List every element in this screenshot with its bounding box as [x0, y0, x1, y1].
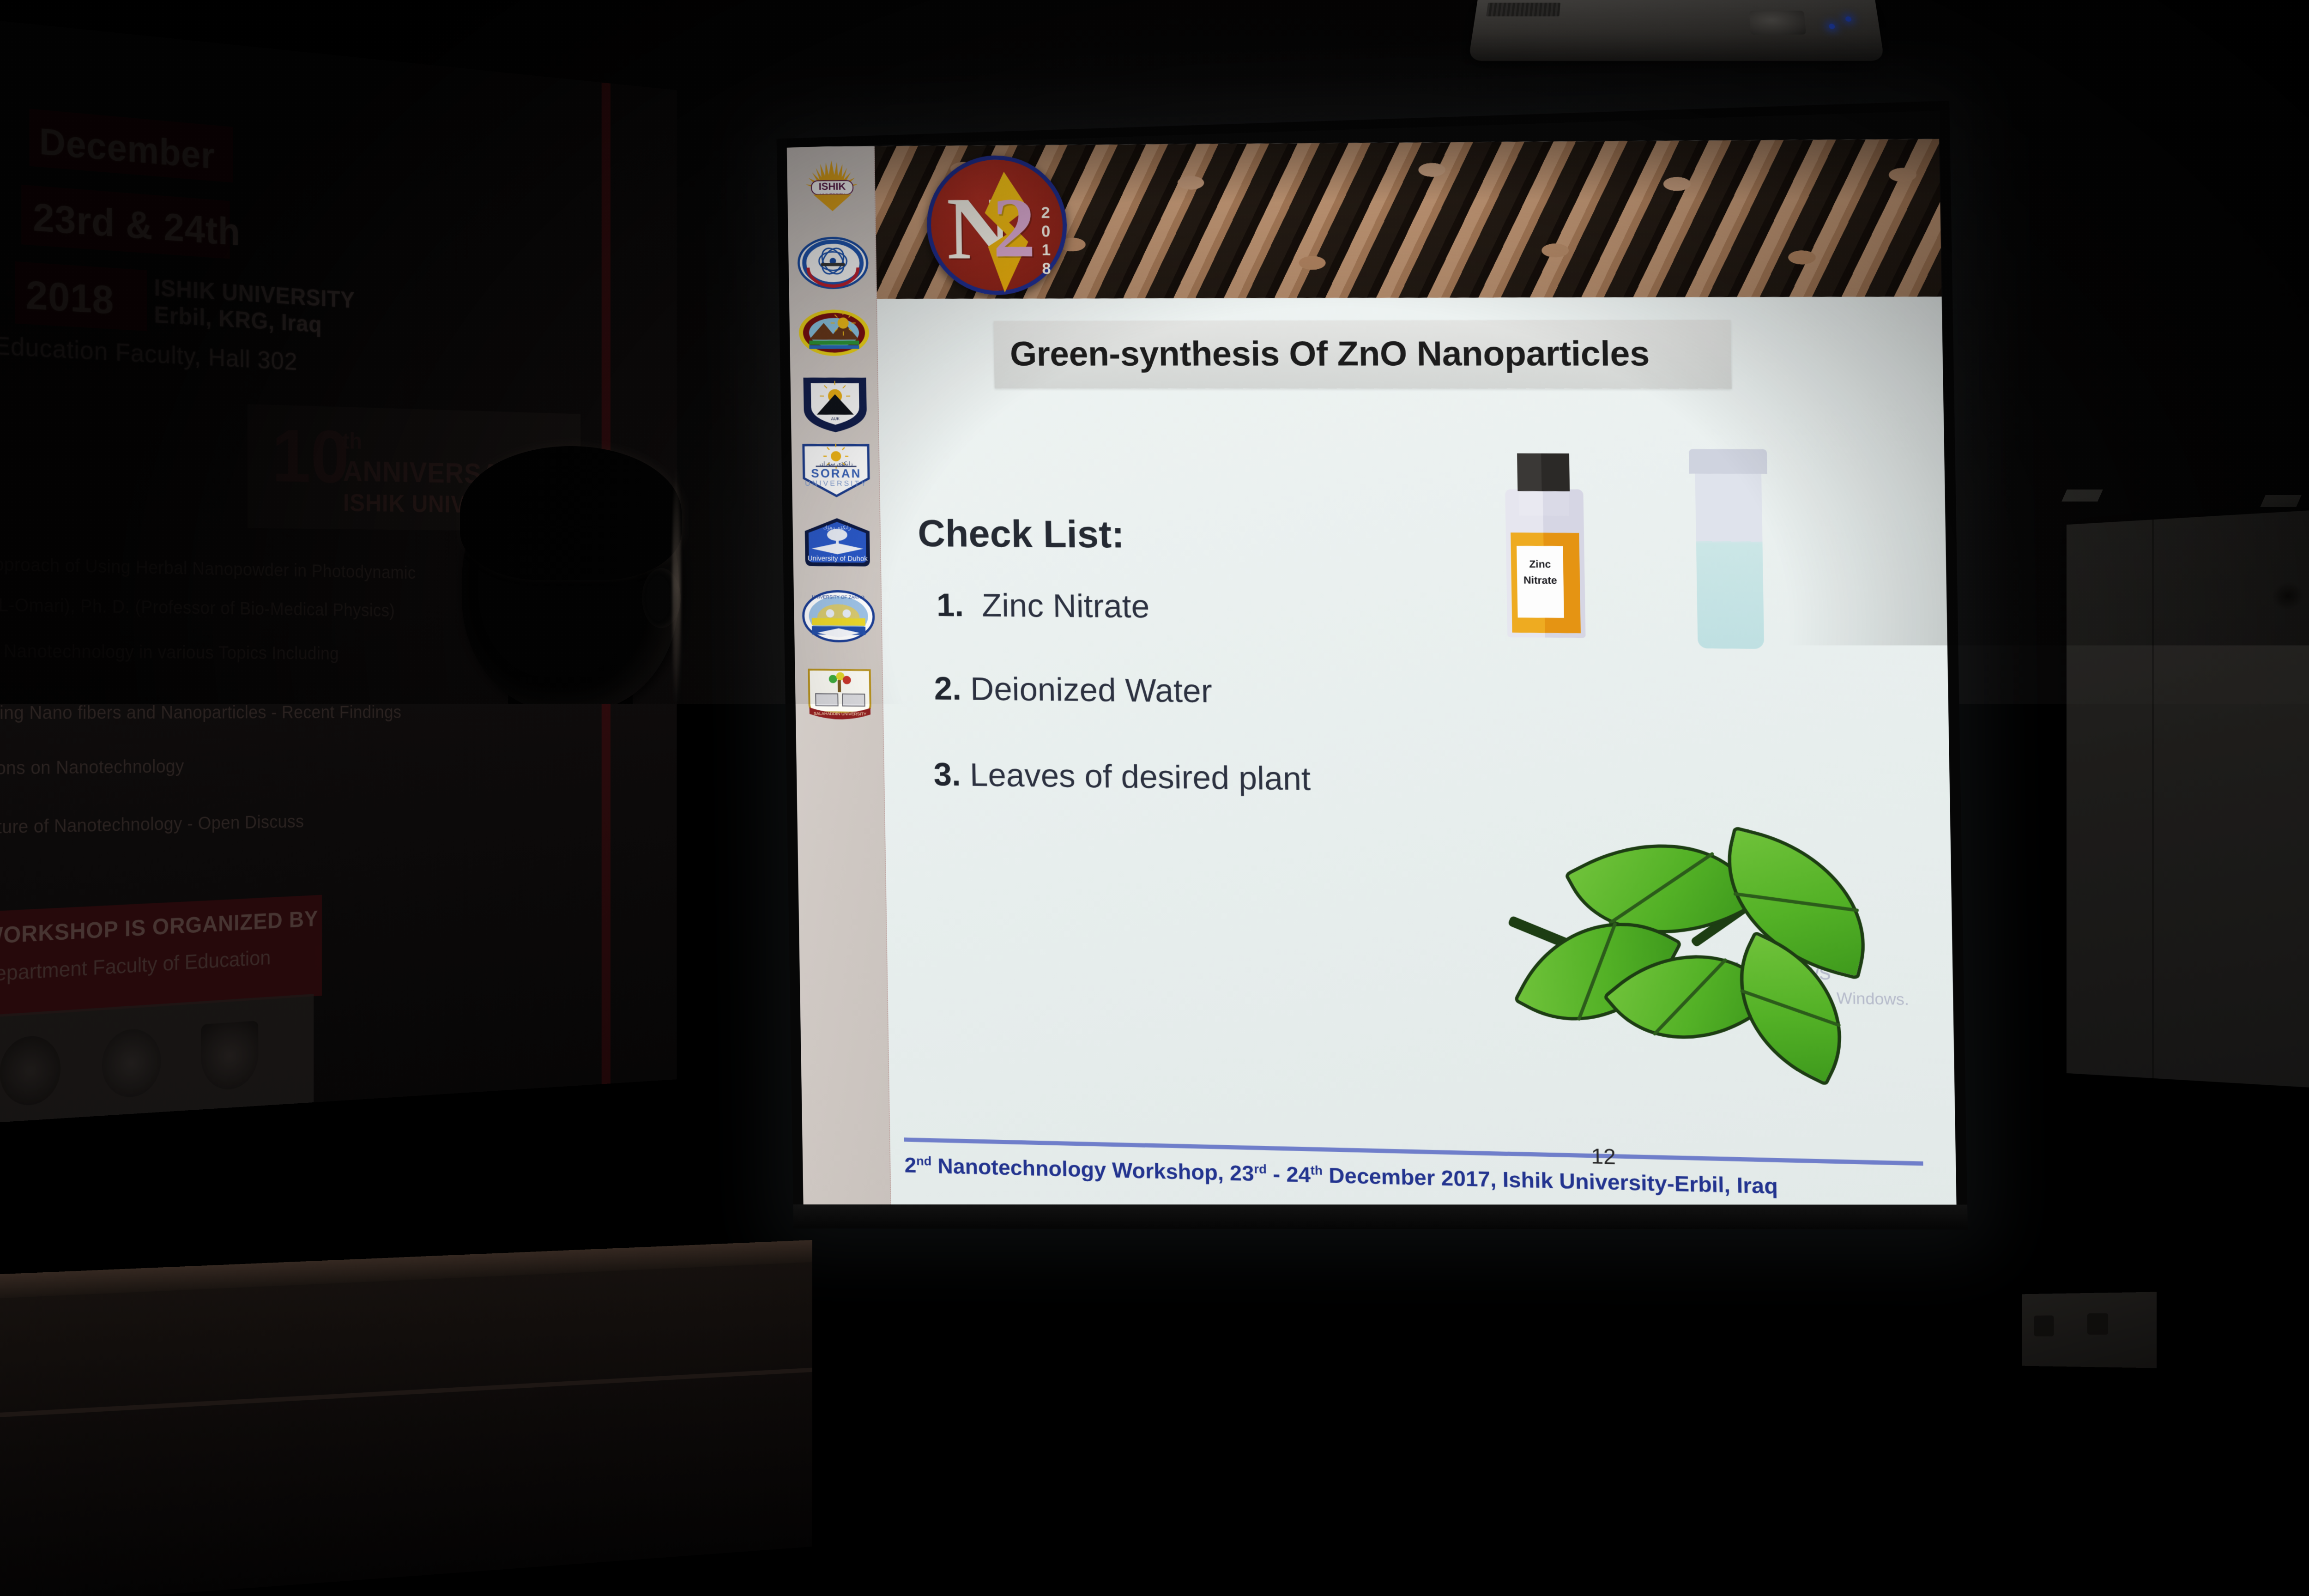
checklist-item-number: 3. — [933, 756, 961, 792]
socket-outlet-icon — [2087, 1313, 2108, 1335]
organized-by-department: Department Faculty of Education — [0, 945, 271, 987]
logo-number-two: 2 — [992, 185, 1036, 271]
university-of-zakho-logo: UNIVERSITY OF ZAKHO — [801, 589, 876, 645]
screen-surface: ISHIK UNIVERSITY — [777, 101, 1968, 1229]
anniversary-university: ISHIK UNIVERSITY — [343, 488, 546, 519]
poster-right-border — [602, 83, 610, 1084]
svg-text:UNIVERSITY: UNIVERSITY — [805, 480, 868, 488]
leaf-vein — [1734, 892, 1859, 913]
svg-text:AUK: AUK — [831, 417, 840, 421]
poster-organizer-logos — [0, 994, 314, 1123]
american-university-of-kurdistan-logo: AUK — [798, 374, 872, 434]
leaf-vein — [1608, 852, 1715, 925]
projector-lens-icon — [1749, 11, 1806, 35]
anniversary-ordinal: th — [342, 428, 362, 454]
checklist-heading: Check List: — [918, 512, 1125, 557]
poster-university: ISHIK UNIVERSITY Erbil, KRG, Iraq — [154, 274, 355, 340]
organized-by-heading: WORKSHOP IS ORGANIZED BY — [0, 906, 318, 949]
screen-frame-bottom — [793, 1204, 1968, 1229]
lectern — [0, 1240, 812, 1596]
leaf-vein — [1652, 957, 1728, 1036]
poster-topic-line: ations on Nanotechnology — [0, 756, 184, 779]
zinc-nitrate-bottle-graphic: Zinc Nitrate — [1498, 453, 1592, 638]
anniversary-badge: 10 th ANNIVERSARY ISHIK UNIVERSITY — [248, 404, 580, 532]
poster-topic-line: Future of Nanotechnology - Open Discuss — [0, 812, 304, 838]
projector-vent-icon — [1486, 3, 1560, 17]
slide-number: 12 — [1591, 1143, 1616, 1170]
checklist-item-number: 1. — [936, 587, 964, 623]
leaf-vein — [1740, 989, 1841, 1027]
slide-footer-text: 2nd Nanotechnology Workshop, 23rd - 24th… — [904, 1152, 1778, 1199]
socket-outlet-icon — [2034, 1315, 2054, 1336]
bottle-label-text: Zinc Nitrate — [1517, 556, 1563, 588]
workshop-poster: December 23rd & 24th 2018 ISHIK UNIVERSI… — [0, 19, 677, 1123]
svg-text:زانكۆى دهۆك: زانكۆى دهۆك — [823, 525, 851, 531]
checklist-item-number: 2. — [934, 670, 961, 707]
bottle-label-line1: Zinc — [1529, 558, 1551, 570]
vial-lip — [1689, 449, 1767, 474]
checklist-item: 3. Leaves of desired plant — [933, 756, 1311, 798]
organizer-logo-icon — [102, 1027, 161, 1099]
board-clip-right — [2260, 495, 2302, 507]
wall-power-socket — [2022, 1292, 2157, 1368]
anniversary-number: 10 — [272, 418, 349, 494]
ishik-university-logo: ISHIK UNIVERSITY — [794, 157, 869, 217]
organizer-logo-icon — [0, 1034, 60, 1107]
projector-power-led — [1845, 16, 1851, 22]
plant-leaves-graphic — [1523, 822, 1838, 1050]
poster-topic-line: on Nanotechnology in various Topics Incl… — [0, 641, 339, 664]
presentation-slide: ISHIK UNIVERSITY — [787, 139, 1957, 1230]
checklist-item-label: Leaves of desired plant — [970, 756, 1311, 797]
vial-liquid — [1696, 543, 1764, 649]
checklist-item-label: Zinc Nitrate — [981, 587, 1149, 624]
soran-university-logo: زانكۆى سۆران SORAN UNIVERSITY — [799, 442, 874, 498]
anniversary-label: ANNIVERSARY — [343, 454, 536, 490]
kurdistan-region-university-logo — [797, 307, 871, 358]
board-clip-left — [2061, 490, 2103, 502]
lectern-top-surface — [0, 1240, 812, 1299]
svg-text:UNIVERSITY OF ZAKHO: UNIVERSITY OF ZAKHO — [812, 595, 864, 600]
projector-status-led — [1829, 24, 1835, 29]
logo-year: 2018 — [1039, 204, 1053, 278]
poster-topic-line: (AL-Omari), Ph. D. (Professor of Bio-Med… — [0, 595, 395, 621]
water-vial-graphic — [1689, 449, 1770, 649]
projection-screen: ISHIK UNIVERSITY — [777, 101, 1968, 1229]
checklist-item: 2. Deionized Water — [934, 670, 1212, 710]
poster-topic-line: Using Nano fibers and Nanoparticles - Re… — [0, 703, 401, 724]
svg-text:SORAN: SORAN — [811, 466, 861, 480]
checklist-item: 1. Zinc Nitrate — [936, 586, 1150, 625]
salahaddin-university-logo: SALAHADDIN UNIVERSITY — [802, 663, 877, 724]
wall-whiteboard — [2067, 509, 2309, 1088]
bottle-label-line2: Nitrate — [1523, 574, 1557, 586]
poster-topic-line: Approach of Using Herbal Nanopowder in P… — [0, 554, 416, 583]
slide-sponsor-logo-rail: ISHIK UNIVERSITY — [787, 146, 891, 1207]
svg-text:ISHIK: ISHIK — [818, 181, 846, 192]
svg-text:University of Duhok: University of Duhok — [808, 555, 868, 563]
whiteboard-seam — [2152, 520, 2154, 1078]
lectern-edge — [0, 1368, 812, 1418]
handheld-microphone — [681, 951, 724, 1007]
organizer-logo-icon — [201, 1021, 258, 1092]
slide-title: Green-synthesis Of ZnO Nanoparticles — [1009, 333, 1650, 374]
poster-venue: Education Faculty, Hall 302 — [0, 330, 297, 376]
slide-content-area: Green-synthesis Of ZnO Nanoparticles Che… — [877, 296, 1957, 1229]
slide-title-banner: Green-synthesis Of ZnO Nanoparticles — [993, 320, 1731, 389]
checklist-item-label: Deionized Water — [970, 671, 1213, 709]
technical-institute-logo — [796, 235, 870, 291]
poster-year: 2018 — [26, 272, 114, 323]
ceiling-projector — [1468, 0, 1884, 61]
bottle-cap — [1517, 453, 1570, 491]
svg-text:SALAHADDIN UNIVERSITY: SALAHADDIN UNIVERSITY — [814, 711, 866, 716]
lecture-hall-background: December 23rd & 24th 2018 ISHIK UNIVERSI… — [0, 0, 2309, 1596]
whiteboard-marks — [2272, 582, 2303, 611]
university-of-duhok-logo: زانكۆى دهۆك University of Duhok — [800, 516, 875, 572]
